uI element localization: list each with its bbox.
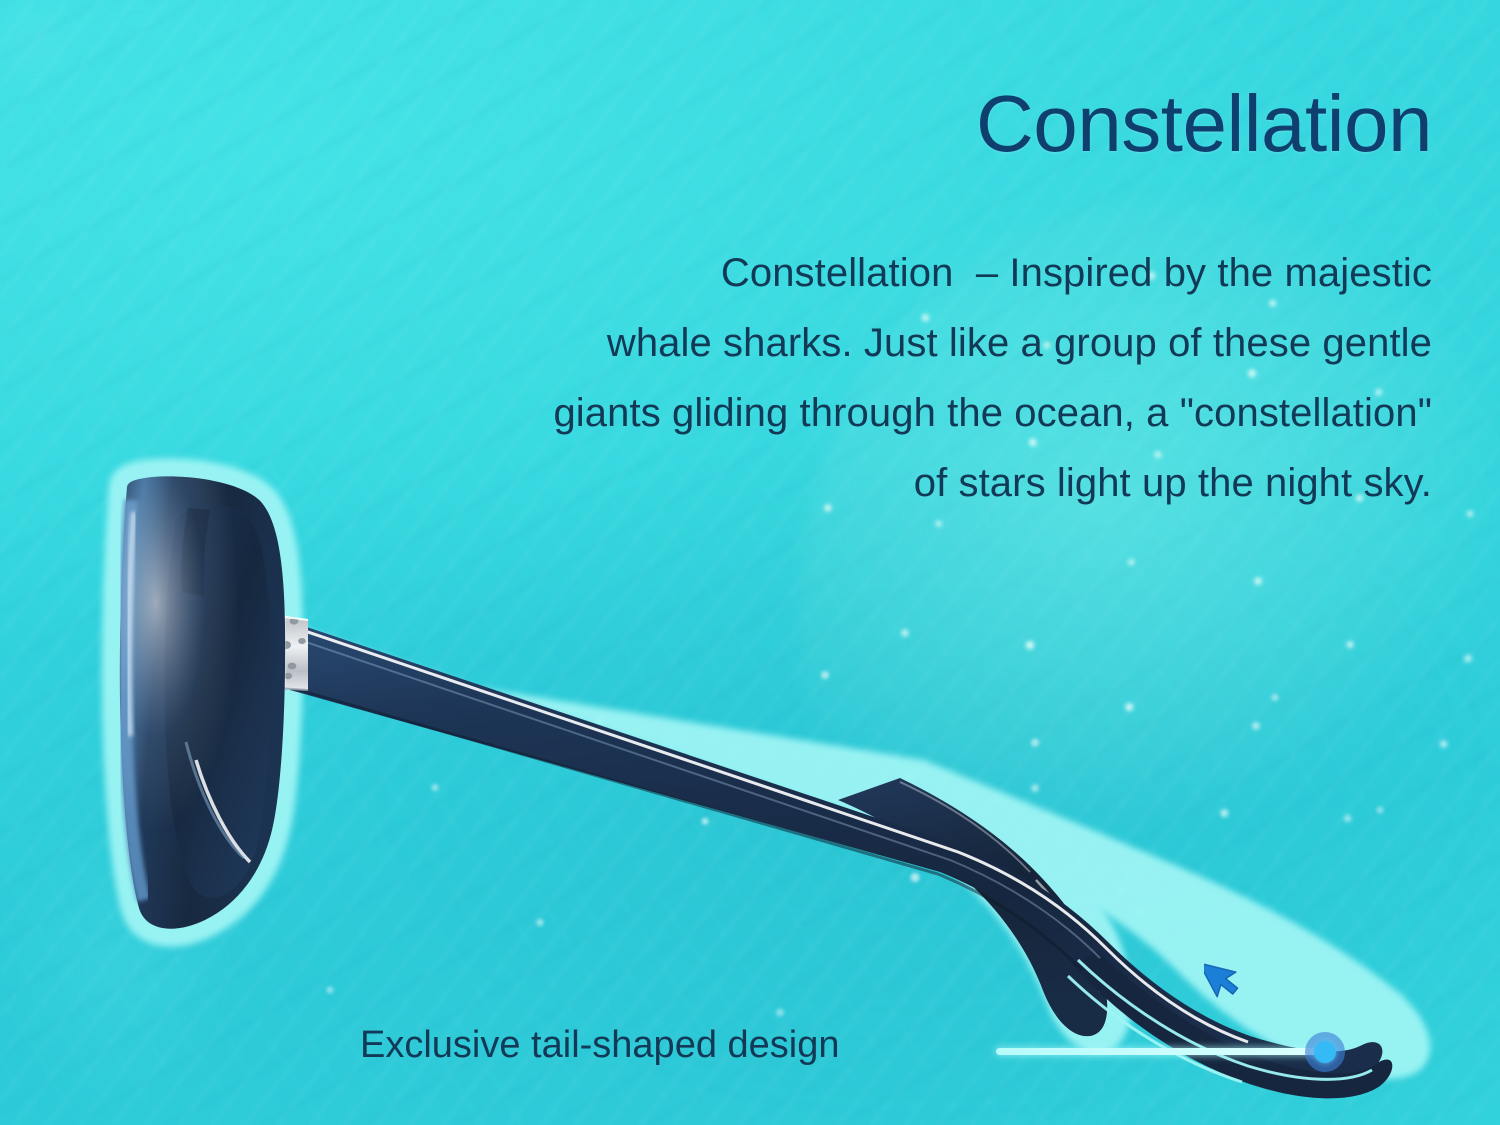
description-line-2: whale sharks. Just like a group of these… [300,308,1432,378]
callout-label: Exclusive tail-shaped design [360,1026,840,1064]
product-marketing-banner: Constellation Constellation – Inspired b… [0,0,1500,1125]
callout-marker-dot [1305,1032,1345,1072]
description-paragraph: Constellation – Inspired by the majestic… [300,238,1432,518]
lens-frame-front [120,476,285,928]
description-line-1: Constellation – Inspired by the majestic [300,238,1432,308]
cursor-arrow-icon [1204,952,1244,1000]
page-title: Constellation [0,84,1432,164]
description-line-3: giants gliding through the ocean, a "con… [300,378,1432,448]
description-line-4: of stars light up the night sky. [300,448,1432,518]
sunglasses-product-image [0,0,1500,1125]
callout-leader-line [996,1048,1328,1055]
